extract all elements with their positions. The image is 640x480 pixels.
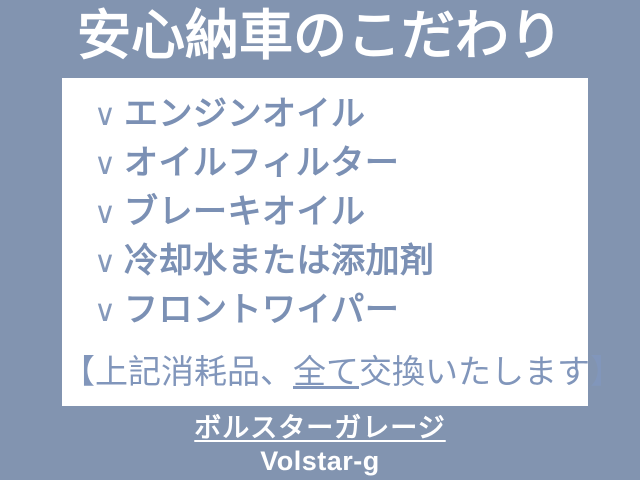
list-item-label: オイルフィルター <box>124 139 399 188</box>
shop-name-latin: Volstar-g <box>0 444 640 478</box>
note-text-emphasis: 全て <box>293 353 359 390</box>
note-open-bracket: 【 <box>62 353 95 390</box>
list-item: ∨ ブレーキオイル <box>94 188 564 237</box>
list-item: ∨ 冷却水または添加剤 <box>94 237 564 286</box>
note-text-after: 交換いたします <box>359 353 590 390</box>
footer: ボルスターガレージ Volstar-g <box>0 412 640 478</box>
list-item-label: 冷却水または添加剤 <box>124 237 435 286</box>
check-icon: ∨ <box>94 238 124 287</box>
shop-name: ボルスターガレージ <box>194 412 445 444</box>
promo-poster: 安心納車のこだわり ∨ エンジンオイル ∨ オイルフィルター ∨ ブレーキオイル… <box>0 0 640 480</box>
check-icon: ∨ <box>94 140 124 189</box>
list-item-label: フロントワイパー <box>124 286 399 335</box>
list-item: ∨ オイルフィルター <box>94 139 564 188</box>
list-item: ∨ エンジンオイル <box>94 90 564 139</box>
list-item: ∨ フロントワイパー <box>94 286 564 335</box>
note-text-before: 上記消耗品、 <box>95 353 293 390</box>
page-title: 安心納車のこだわり <box>0 4 640 68</box>
note-close-bracket: 】 <box>590 353 623 390</box>
check-icon: ∨ <box>94 189 124 238</box>
service-checklist: ∨ エンジンオイル ∨ オイルフィルター ∨ ブレーキオイル ∨ 冷却水または添… <box>94 90 564 335</box>
list-item-label: ブレーキオイル <box>124 188 366 237</box>
service-card: ∨ エンジンオイル ∨ オイルフィルター ∨ ブレーキオイル ∨ 冷却水または添… <box>62 78 588 406</box>
check-icon: ∨ <box>94 91 124 140</box>
list-item-label: エンジンオイル <box>124 90 366 139</box>
replacement-note: 【上記消耗品、全て交換いたします】 <box>62 350 588 394</box>
check-icon: ∨ <box>94 287 124 336</box>
